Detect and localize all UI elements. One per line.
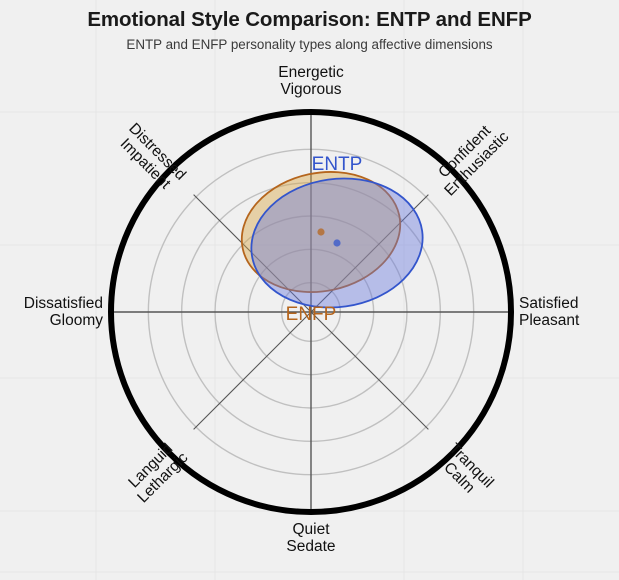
axis-label-bottom: QuietSedate [286, 521, 335, 555]
page-subtitle: ENTP and ENFP personality types along af… [0, 37, 619, 52]
axis-label-bottom-right: TranquilCalm [434, 440, 497, 503]
page-title: Emotional Style Comparison: ENTP and ENF… [0, 8, 619, 32]
circumplex-plot: EnergeticVigorousConfidentEnthusiasticSa… [0, 0, 619, 580]
axis-spoke-bottom-left [194, 312, 311, 429]
series-ellipses [230, 158, 431, 319]
series-center-dot-enfp [317, 228, 324, 235]
axis-label-left: DissatisfiedGloomy [24, 295, 103, 329]
axis-label-bottom-left: LanguidLethargic [122, 437, 191, 506]
series-center-dot-entp [333, 239, 340, 246]
axis-spoke-bottom-right [311, 312, 428, 429]
emotional-style-circumplex-chart: Emotional Style Comparison: ENTP and ENF… [0, 0, 619, 580]
axis-label-top-left: DistressedImpatient [113, 120, 189, 196]
axis-label-top: EnergeticVigorous [278, 64, 344, 98]
series-label-enfp: ENFP [286, 304, 337, 325]
axis-label-right: SatisfiedPleasant [519, 295, 580, 329]
series-label-entp: ENTP [312, 154, 363, 175]
